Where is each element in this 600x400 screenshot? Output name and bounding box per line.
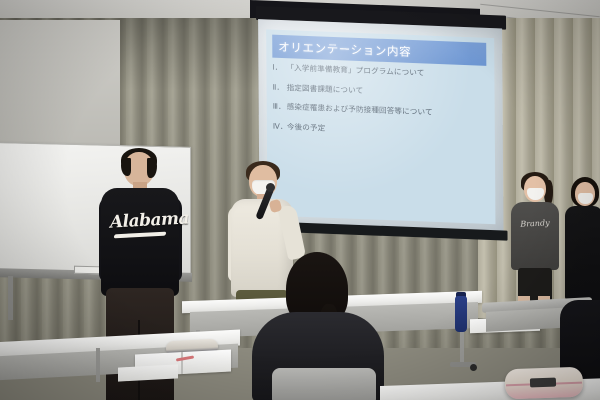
slide-item-text: 感染症罹患および予防接種回答等について [287, 103, 433, 116]
slide-list-item: Ⅲ． 感染症罹患および予防接種回答等について [273, 103, 489, 119]
whiteboard-eraser [74, 266, 100, 275]
screen-surface: オリエンテーション内容 Ⅰ． 「入学前準備教育」プログラムについて Ⅱ． 指定図… [258, 19, 503, 232]
table-caster [470, 364, 477, 371]
blue-water-bottle [455, 296, 467, 332]
slide-title-bar: オリエンテーション内容 [272, 35, 486, 66]
slide-item-number: Ⅱ． [273, 83, 287, 91]
presenter-left-hair-side [121, 158, 131, 176]
slide-item-text: 今後の予定 [287, 123, 326, 132]
standing-student-gray-body [511, 202, 559, 270]
pencil-case-tag [530, 378, 556, 388]
classroom-chair [272, 368, 376, 400]
slide-item-text: 指定図書課題について [287, 84, 364, 95]
sweatshirt-graphic-text: Brandy [516, 217, 555, 231]
slide-item-text: 「入学前準備教育」プログラムについて [286, 64, 424, 77]
slide-item-number: Ⅲ． [273, 103, 287, 111]
notebook-spine [181, 352, 183, 374]
table-leg [96, 348, 100, 382]
slide-item-number: Ⅳ． [273, 122, 287, 130]
slide-list-item: Ⅰ． 「入学前準備教育」プログラムについて [272, 64, 488, 80]
slide-list-item: Ⅱ． 指定図書課題について [273, 83, 489, 99]
slide-list-item: Ⅳ． 今後の予定 [273, 122, 489, 138]
whiteboard-leg [8, 276, 13, 320]
standing-student-black-body [565, 206, 600, 300]
presenter-left-torso [101, 188, 179, 296]
slide-title: オリエンテーション内容 [272, 38, 411, 59]
side-wall [0, 20, 120, 160]
slide: オリエンテーション内容 Ⅰ． 「入学前準備教育」プログラムについて Ⅱ． 指定図… [266, 29, 495, 224]
slide-item-number: Ⅰ． [272, 64, 286, 72]
microphone-head-icon [266, 183, 275, 192]
classroom-photo: オリエンテーション内容 Ⅰ． 「入学前準備教育」プログラムについて Ⅱ． 指定図… [0, 0, 600, 400]
table-leg [460, 328, 464, 364]
slide-body: Ⅰ． 「入学前準備教育」プログラムについて Ⅱ． 指定図書課題について Ⅲ． 感… [272, 64, 489, 151]
